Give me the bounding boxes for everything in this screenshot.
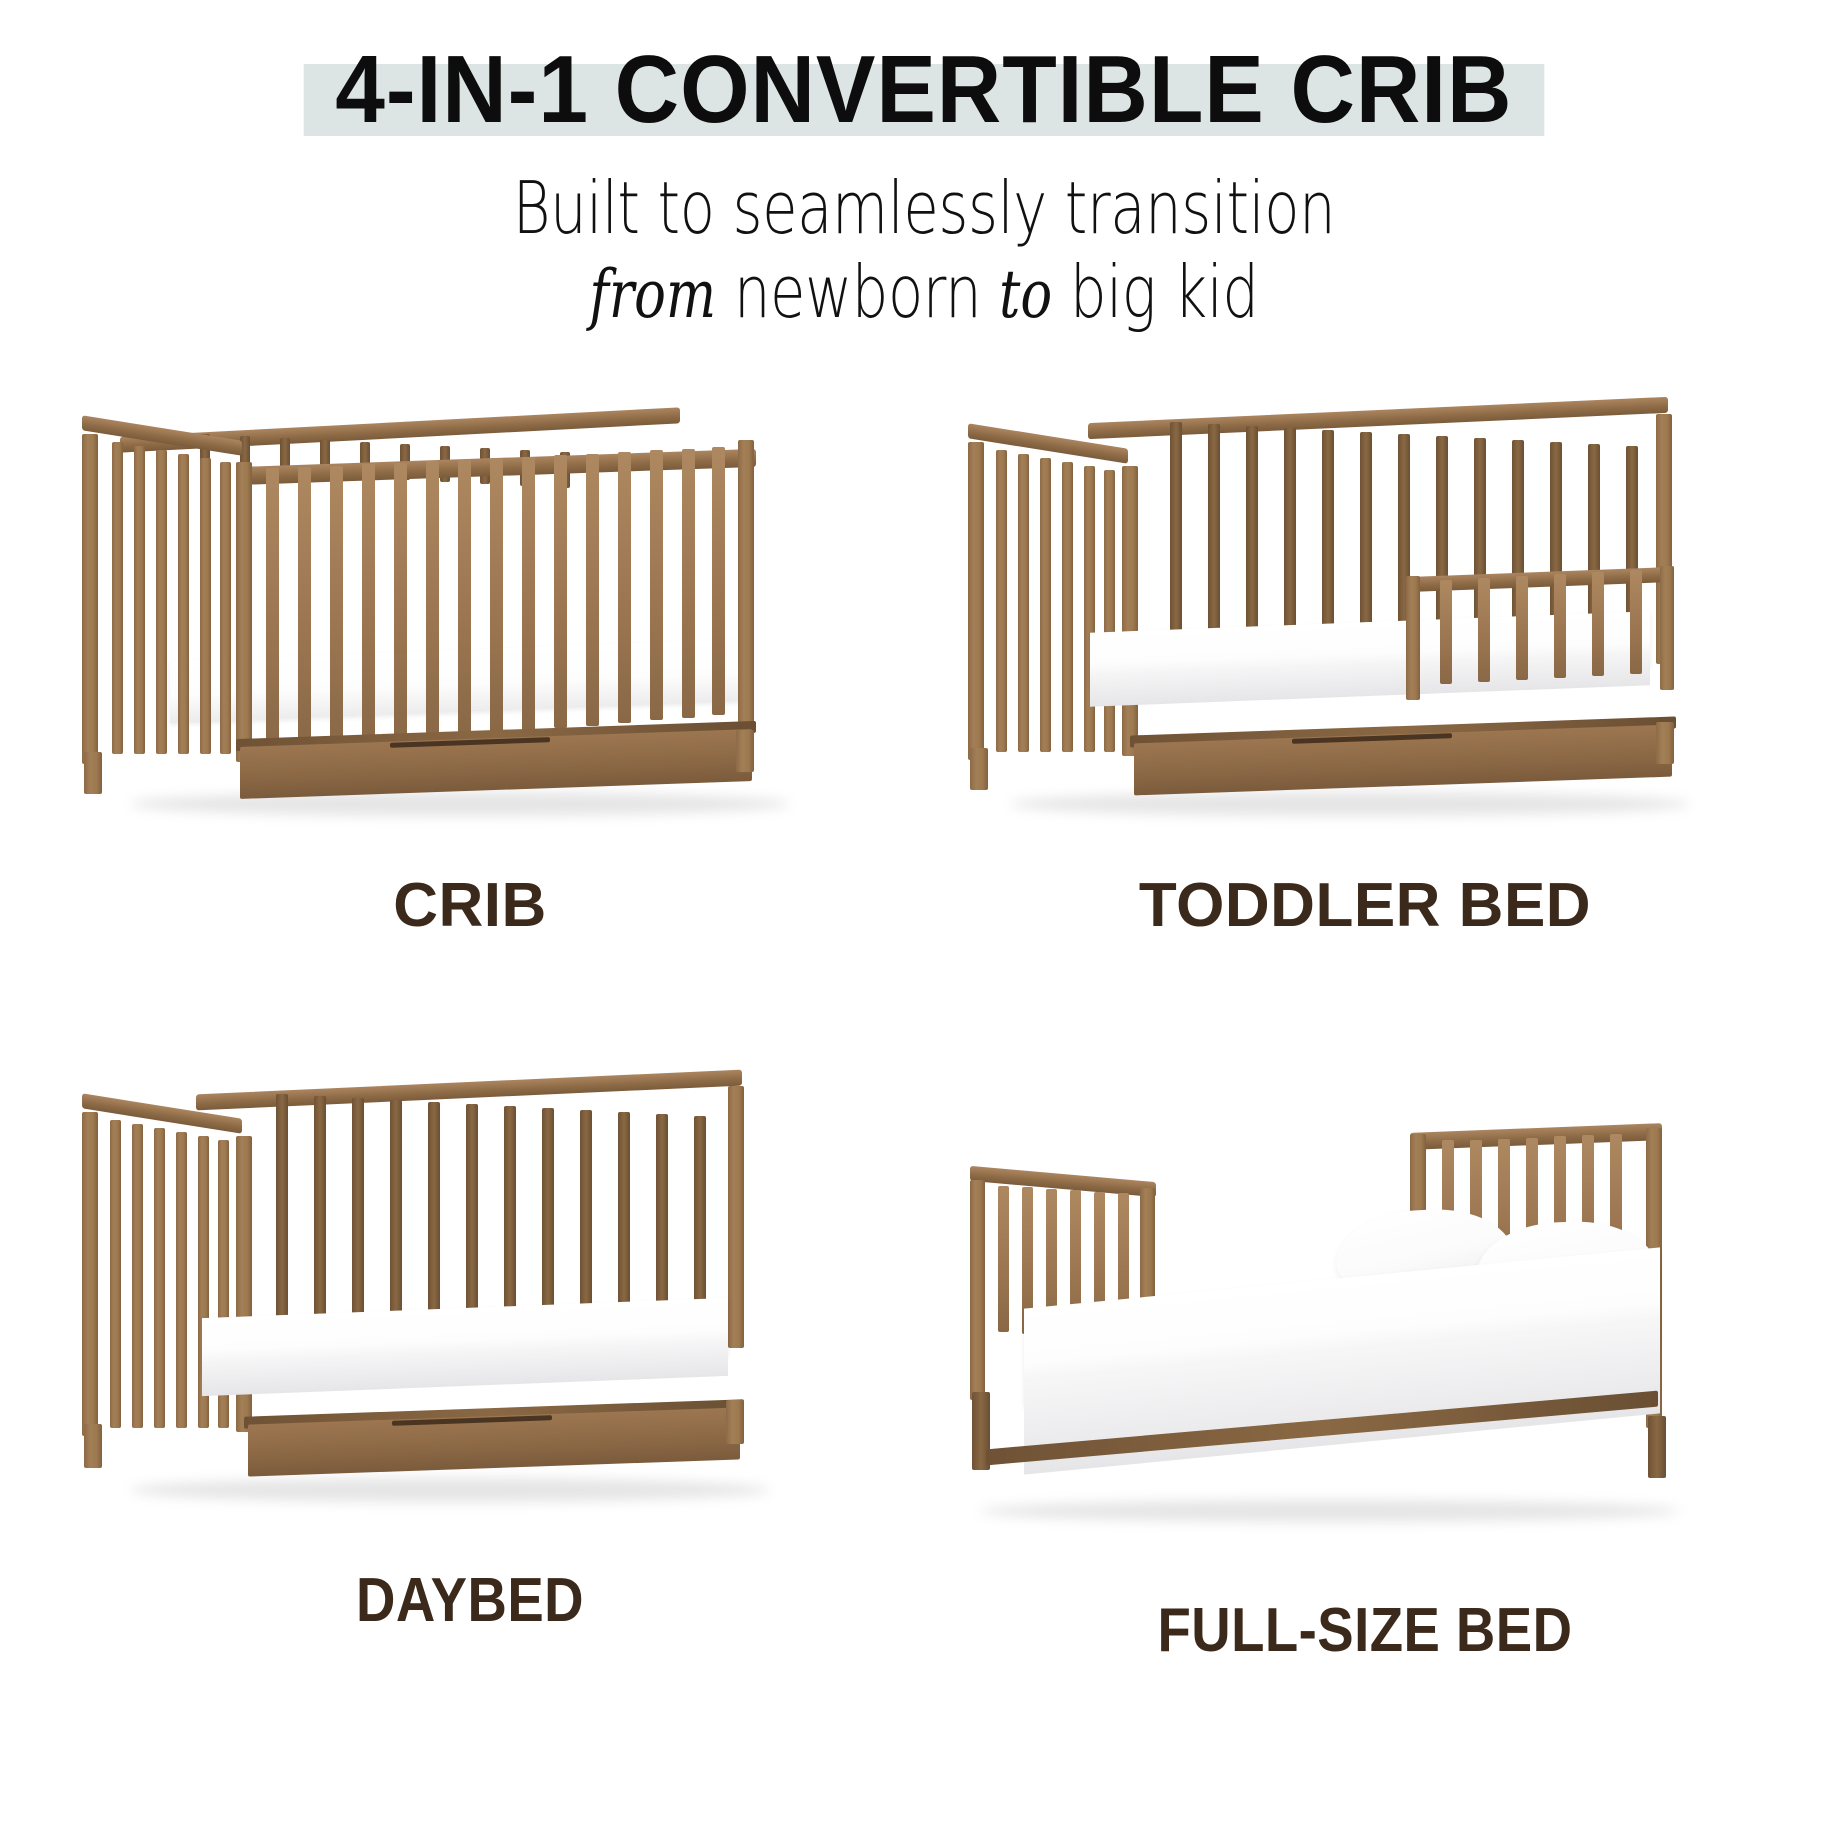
- page-title-wrap: 4-IN-1 CONVERTIBLE CRIB: [0, 38, 1848, 144]
- daybed-back-right-post: [728, 1086, 744, 1348]
- config-crib: CRIB: [60, 400, 880, 1090]
- header: 4-IN-1 CONVERTIBLE CRIB Built to seamles…: [0, 0, 1848, 332]
- daybed-right-foot: [726, 1400, 744, 1444]
- configuration-grid: CRIB: [0, 400, 1848, 1848]
- config-full-size-bed: FULL-SIZE BED: [940, 1100, 1790, 1800]
- toddler-guard-rail-right-post: [1660, 566, 1674, 690]
- daybed-illustration: [60, 1060, 880, 1580]
- page-title-text: 4-IN-1 CONVERTIBLE CRIB: [335, 36, 1512, 143]
- crib-front-right-post: [738, 440, 754, 740]
- toddler-right-foot: [1656, 722, 1674, 764]
- toddler-bed-illustration: [940, 400, 1790, 920]
- page-title: 4-IN-1 CONVERTIBLE CRIB: [304, 38, 1544, 144]
- crib-left-foot: [84, 752, 102, 794]
- config-toddler-bed: TODDLER BED: [940, 400, 1790, 1090]
- daybed-left-corner-post: [82, 1112, 98, 1436]
- subtitle-script-from: from: [589, 256, 716, 333]
- crib-left-corner-post: [82, 434, 98, 764]
- label-daybed: DAYBED: [109, 1565, 831, 1636]
- full-ground-shadow: [980, 1500, 1680, 1522]
- daybed-ground-shadow: [130, 1478, 770, 1502]
- label-crib: CRIB: [60, 870, 880, 941]
- subtitle-line-1: Built to seamlessly transition: [185, 170, 1663, 248]
- toddler-ground-shadow: [1010, 792, 1690, 816]
- subtitle-word-newborn: newborn: [734, 250, 981, 334]
- full-footboard-left-post: [970, 1180, 985, 1400]
- crib-right-foot: [736, 730, 754, 772]
- daybed-left-foot: [84, 1424, 102, 1468]
- toddler-left-foot: [970, 748, 988, 790]
- subtitle-line-2: from newborn to big kid: [185, 254, 1663, 332]
- subtitle-script-to: to: [999, 256, 1052, 333]
- full-size-bed-illustration: [940, 1100, 1790, 1620]
- toddler-headboard-post: [1122, 466, 1138, 756]
- subtitle-word-bigkid: big kid: [1070, 250, 1259, 334]
- crib-illustration: [60, 400, 880, 920]
- label-full-size-bed: FULL-SIZE BED: [991, 1595, 1739, 1666]
- toddler-guard-rail-left-post: [1406, 576, 1420, 700]
- full-headboard-leg: [1648, 1416, 1666, 1478]
- crib-ground-shadow: [130, 792, 790, 816]
- crib-front-left-post: [236, 462, 252, 762]
- config-daybed: DAYBED: [60, 1060, 880, 1760]
- toddler-left-corner-post: [968, 442, 984, 760]
- label-toddler-bed: TODDLER BED: [940, 870, 1790, 941]
